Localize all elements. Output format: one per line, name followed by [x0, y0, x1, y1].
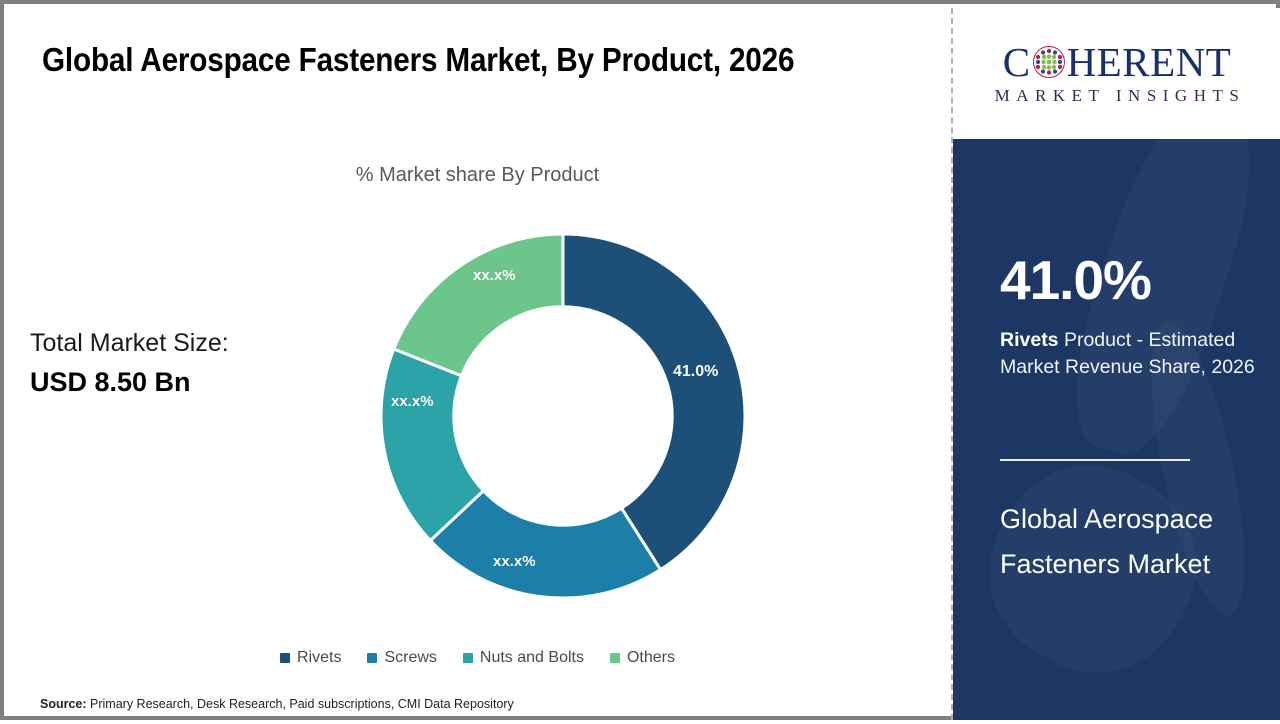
legend-item-rivets[interactable]: Rivets [280, 649, 341, 667]
chart-legend: RivetsScrewsNuts and BoltsOthers [4, 649, 951, 667]
panel-headline: Global Aerospace Fasteners Market [1000, 497, 1250, 587]
left-content-area: Global Aerospace Fasteners Market, By Pr… [4, 4, 951, 724]
page-title: Global Aerospace Fasteners Market, By Pr… [42, 34, 825, 85]
company-logo: C [954, 8, 1280, 139]
logo-tagline: MARKET INSIGHTS [989, 86, 1246, 106]
legend-swatch-icon [463, 653, 473, 663]
legend-label: Nuts and Bolts [480, 649, 584, 667]
total-market-size-label: Total Market Size: [30, 329, 229, 358]
chart-subtitle: % Market share By Product [4, 164, 951, 187]
source-label: Source: [40, 697, 87, 711]
logo-wordmark: C [1003, 42, 1232, 83]
legend-item-others[interactable]: Others [610, 649, 675, 667]
panel-divider-rule [1000, 459, 1190, 461]
logo-wordmark-rest: HERENT [1067, 42, 1232, 83]
donut-chart: 41.0% xx.x% xx.x% xx.x% [373, 226, 753, 606]
legend-item-screws[interactable]: Screws [367, 649, 436, 667]
slice-label-rivets: 41.0% [673, 363, 718, 381]
stat-percentage: 41.0% [1000, 253, 1151, 308]
slice-label-others: xx.x% [473, 267, 516, 284]
stat-description-emphasis: Rivets [1000, 329, 1059, 351]
source-text: Primary Research, Desk Research, Paid su… [87, 697, 514, 711]
legend-swatch-icon [280, 653, 290, 663]
legend-label: Others [627, 649, 675, 667]
donut-slice-group [381, 234, 745, 598]
legend-label: Rivets [297, 649, 341, 667]
globe-dots-icon [1032, 45, 1066, 79]
logo-letter-c: C [1003, 42, 1031, 83]
infographic-page: Global Aerospace Fasteners Market, By Pr… [0, 0, 1280, 720]
total-market-size-value: USD 8.50 Bn [30, 367, 191, 398]
highlight-panel: 41.0% Rivets Product - Estimated Market … [953, 139, 1280, 720]
stat-description: Rivets Product - Estimated Market Revenu… [1000, 327, 1262, 380]
legend-item-nuts-and-bolts[interactable]: Nuts and Bolts [463, 649, 584, 667]
source-note: Source: Primary Research, Desk Research,… [40, 697, 514, 711]
slice-label-nuts-and-bolts: xx.x% [391, 393, 434, 410]
donut-slice-others [394, 234, 563, 376]
legend-swatch-icon [367, 653, 377, 663]
slice-label-screws: xx.x% [493, 553, 536, 570]
legend-swatch-icon [610, 653, 620, 663]
donut-chart-svg [373, 226, 753, 606]
legend-label: Screws [384, 649, 436, 667]
donut-slice-rivets [563, 234, 745, 570]
